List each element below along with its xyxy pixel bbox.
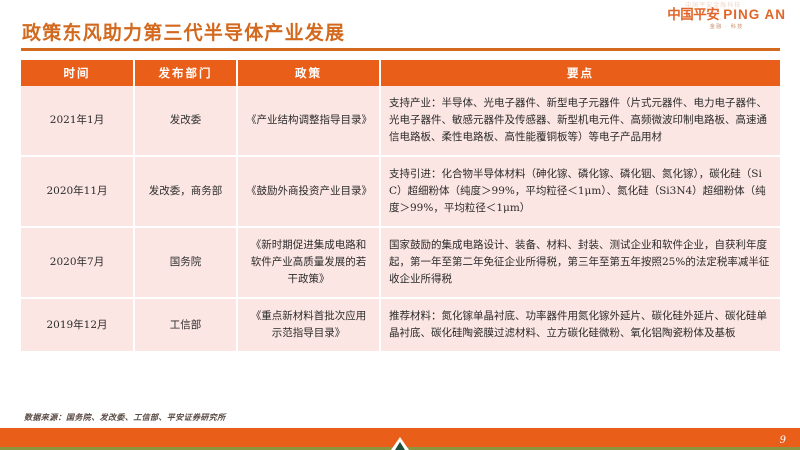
table-row: 2021年1月 发改委 《产业结构调整指导目录》 支持产业：半导体、光电子器件、… [21,86,780,156]
column-header-dept: 发布部门 [134,60,237,86]
column-header-time: 时间 [21,60,134,86]
policy-table-container: 时间 发布部门 政策 要点 2021年1月 发改委 《产业结构调整指导目录》 支… [21,60,780,351]
cell-points: 推荐材料：氮化镓单晶衬底、功率器件用氮化镓外延片、碳化硅外延片、碳化硅单晶衬底、… [380,298,780,351]
cell-policy: 《重点新材料首批次应用示范指导目录》 [237,298,380,351]
cell-points: 支持产业：半导体、光电子器件、新型电子元器件（片式元器件、电力电子器件、光电子器… [380,86,780,156]
cell-points: 支持引进：化合物半导体材料（砷化镓、磷化镓、磷化铟、氮化镓），碳化硅（SiC）超… [380,156,780,227]
table-row: 2019年12月 工信部 《重点新材料首批次应用示范指导目录》 推荐材料：氮化镓… [21,298,780,351]
logo-tagline: 金融 · 科技 [667,25,786,30]
logo-ghost-text: 中国平安金融科技 [685,3,741,9]
cell-policy: 《鼓励外商投资产业目录》 [237,156,380,227]
table-row: 2020年11月 发改委，商务部 《鼓励外商投资产业目录》 支持引进：化合物半导… [21,156,780,227]
footer-triangle-icon [391,436,409,450]
page-number: 9 [780,435,786,446]
cell-dept: 工信部 [134,298,237,351]
pingan-logo: 中国平安金融科技 中国平安PING AN 金融 · 科技 [667,8,786,30]
policy-table: 时间 发布部门 政策 要点 2021年1月 发改委 《产业结构调整指导目录》 支… [21,60,780,351]
cell-points: 国家鼓励的集成电路设计、装备、材料、封装、测试企业和软件企业，自获利年度起，第一… [380,227,780,298]
table-row: 2020年7月 国务院 《新时期促进集成电路和软件产业高质量发展的若干政策》 国… [21,227,780,298]
page-title: 政策东风助力第三代半导体产业发展 [22,18,345,45]
cell-time: 2021年1月 [21,86,134,156]
cell-time: 2020年7月 [21,227,134,298]
cell-dept: 发改委，商务部 [134,156,237,227]
table-header-row: 时间 发布部门 政策 要点 [21,60,780,86]
logo-english-name: PING AN [723,7,786,22]
cell-policy: 《新时期促进集成电路和软件产业高质量发展的若干政策》 [237,227,380,298]
cell-time: 2020年11月 [21,156,134,227]
cell-policy: 《产业结构调整指导目录》 [237,86,380,156]
cell-time: 2019年12月 [21,298,134,351]
title-underline-rule [21,48,780,51]
source-note: 数据来源：国务院、发改委、工信部、平安证券研究所 [24,412,226,423]
column-header-points: 要点 [380,60,780,86]
cell-dept: 国务院 [134,227,237,298]
cell-dept: 发改委 [134,86,237,156]
footer-triangle-inner [395,442,405,450]
logo-chinese-name: 中国平安 [667,7,719,22]
slide-canvas: 中国平安金融科技 中国平安PING AN 金融 · 科技 政策东风助力第三代半导… [0,0,800,450]
column-header-policy: 政策 [237,60,380,86]
logo-wordmark: 中国平安PING AN [667,8,786,22]
table-header: 时间 发布部门 政策 要点 [21,60,780,86]
table-body: 2021年1月 发改委 《产业结构调整指导目录》 支持产业：半导体、光电子器件、… [21,86,780,351]
